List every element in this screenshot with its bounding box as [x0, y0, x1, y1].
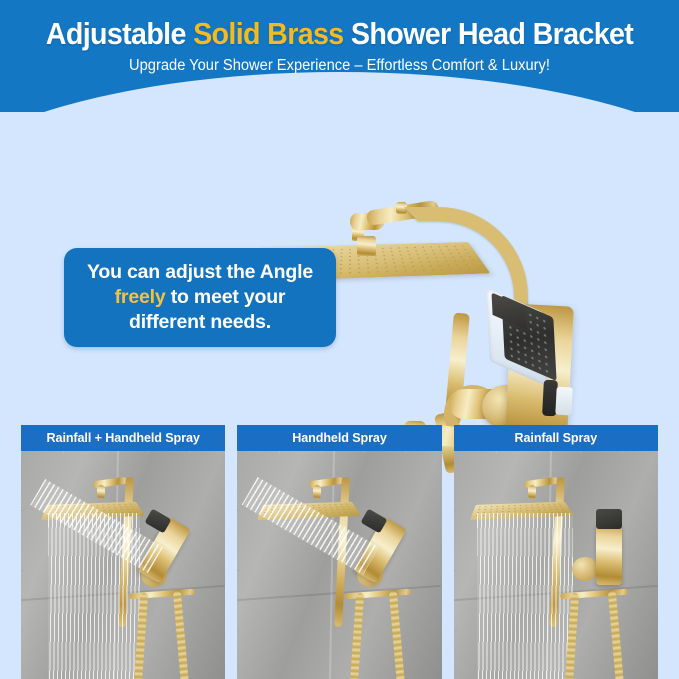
mini-wall-flange [572, 557, 598, 581]
header-banner: Adjustable Solid Brass Shower Head Brack… [0, 0, 679, 112]
panel-photo [454, 451, 658, 679]
panel-label: Rainfall + Handheld Spray [21, 425, 225, 451]
mini-wand-cap [596, 509, 622, 529]
mini-handheld-wand [596, 523, 622, 585]
callout-text: You can adjust the Angle freely to meet … [77, 260, 323, 335]
panel-handheld[interactable]: Handheld Spray [237, 425, 441, 679]
title-highlight: Solid Brass [193, 17, 344, 51]
header-curve-decoration [0, 72, 679, 112]
spray-mode-panels: Rainfall + Handheld Spray [0, 425, 679, 679]
rainfall-water-stream [477, 513, 573, 679]
panel-label: Rainfall Spray [454, 425, 658, 451]
title-part2: Shower Head Bracket [344, 17, 634, 51]
panel-photo [21, 451, 225, 679]
mini-head-stem [528, 485, 536, 499]
callout-line2-rest: to meet your [165, 286, 285, 308]
mini-head-stem [97, 485, 105, 499]
angle-callout-box: You can adjust the Angle freely to meet … [64, 248, 336, 347]
wand-side-tab [555, 387, 572, 416]
panel-rainfall[interactable]: Rainfall Spray [454, 425, 658, 679]
infographic-root: Adjustable Solid Brass Shower Head Brack… [0, 0, 679, 679]
mini-head-stem [313, 485, 321, 499]
callout-line1: You can adjust the Angle [87, 261, 313, 283]
title-part1: Adjustable [46, 17, 193, 51]
rainfall-swivel-joint [357, 236, 376, 256]
panel-photo [237, 451, 441, 679]
callout-line3: different needs. [129, 311, 271, 333]
page-title: Adjustable Solid Brass Shower Head Brack… [20, 17, 658, 52]
panel-rainfall-handheld[interactable]: Rainfall + Handheld Spray [21, 425, 225, 679]
panel-label: Handheld Spray [237, 425, 441, 451]
callout-highlight: freely [115, 286, 166, 308]
